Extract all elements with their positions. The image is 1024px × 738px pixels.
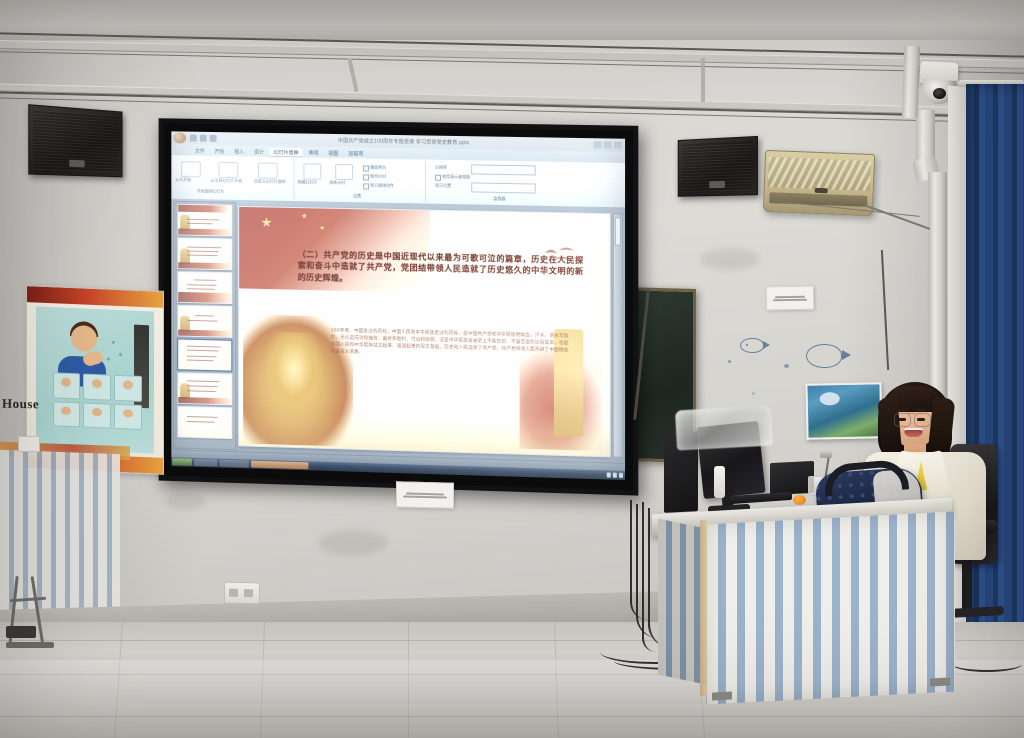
powerpoint-window[interactable]: 中国共产党成立100周年专题党课 学习贯彻党史教育.pptx 文件 开始 插入 …: [171, 131, 625, 480]
speaker-badge: [709, 181, 725, 188]
start-from-beginning-label: 从头开始: [175, 177, 191, 183]
desk-foot: [930, 677, 950, 686]
network-icon[interactable]: [607, 472, 611, 477]
thumb-line: [187, 360, 214, 362]
quick-access-toolbar[interactable]: [190, 135, 217, 142]
wall-smudge: [166, 492, 206, 510]
close-icon[interactable]: [614, 142, 622, 149]
conduit-drop-2: [701, 58, 705, 102]
bubble-dot: [784, 364, 789, 368]
taskbar-item[interactable]: [219, 460, 249, 468]
thumb-accent-bottom: [178, 229, 231, 236]
poster-step: [83, 374, 111, 401]
presenter-view-label: 使用演示者视图: [442, 174, 470, 181]
fish-eye-icon: [746, 344, 748, 346]
slide-title[interactable]: （二）共产党的历史是中国近现代以来最为可歌可泣的篇章，历史在人民探索和奋斗中造就…: [298, 249, 584, 290]
droplet-icon: [107, 358, 110, 361]
ribbon-group-monitors: 使用演示者视图 分辨率 显示位置 监视器: [429, 162, 580, 205]
slide-thumbnail[interactable]: [177, 237, 232, 270]
thumb-line: [187, 350, 219, 352]
poster-top-band: [27, 286, 163, 308]
notice-line: [403, 495, 447, 498]
slide-scrollbar[interactable]: [613, 213, 623, 458]
rehearse-timings-button[interactable]: [335, 164, 353, 180]
thumb-line: [194, 279, 215, 280]
ac-display-icon: [814, 188, 827, 193]
thumb-accent-bottom: [178, 330, 231, 337]
start-from-current-button[interactable]: [218, 162, 238, 178]
plastic-cover: [675, 406, 773, 451]
hide-slide-label: 隐藏幻灯片: [297, 179, 317, 185]
mouth-smiling: [904, 428, 923, 437]
tab-review[interactable]: 审阅: [305, 148, 323, 157]
volume-icon[interactable]: [613, 473, 617, 478]
desk-foot: [712, 691, 732, 700]
play-narration-checkbox[interactable]: [363, 165, 369, 171]
thumb-line: [187, 254, 218, 256]
socket-slot: [229, 589, 238, 597]
notice-line: [406, 492, 444, 495]
custom-slideshow-label: 自定义幻灯片放映: [254, 178, 286, 185]
thumb-accent-bottom: [178, 262, 231, 269]
slide-thumbnail[interactable]: [177, 372, 232, 405]
projection-screen: 中国共产党成立100周年专题党课 学习贯彻党史教育.pptx 文件 开始 插入 …: [159, 118, 639, 495]
easel-base: [6, 642, 54, 648]
poster-step: [114, 404, 142, 431]
show-media-controls-label: 显示媒体控件: [370, 183, 394, 189]
cctv-lens-icon: [933, 88, 946, 99]
projected-image: 中国共产党成立100周年专题党课 学习贯彻党史教育.pptx 文件 开始 插入 …: [171, 131, 625, 480]
thumb-line: [187, 390, 216, 392]
easel-tray: [6, 626, 36, 638]
guardian-lion-head-icon: [265, 332, 324, 415]
desk-corner-edge: [700, 520, 707, 696]
windows-taskbar[interactable]: [171, 457, 625, 480]
slide-thumbnail[interactable]: [177, 271, 232, 304]
metal-easel-stand: [10, 576, 58, 654]
input-method-icon[interactable]: [619, 473, 623, 478]
slide-thumbnail[interactable]: [177, 406, 232, 439]
system-tray[interactable]: [607, 472, 623, 478]
poster-body: [36, 307, 154, 454]
speaker-left: [28, 104, 122, 177]
poster-step: [53, 401, 81, 428]
tab-file[interactable]: 文件: [191, 147, 209, 156]
painting-moon: [819, 392, 839, 405]
tab-design[interactable]: 设计: [250, 148, 268, 157]
slide-thumbnail-selected[interactable]: [177, 338, 232, 371]
thumb-line: [187, 421, 215, 423]
show-media-controls-checkbox[interactable]: [363, 183, 369, 189]
ribbon-group-setup-title: 设置: [353, 193, 361, 199]
fish-decal-small: [740, 338, 764, 353]
use-timings-label: 使用计时: [370, 174, 386, 180]
wall-smudge: [318, 530, 388, 556]
fish-decal-large: [806, 344, 842, 368]
tab-addins[interactable]: 加载项: [344, 149, 367, 158]
thumb-line: [195, 315, 213, 316]
restore-icon[interactable]: [604, 141, 612, 148]
slide-thumbnail[interactable]: [177, 305, 232, 338]
resolution-label: 分辨率: [435, 165, 447, 171]
show-on-dropdown[interactable]: [471, 182, 536, 193]
thumb-line: [187, 288, 215, 290]
thumb-line: [187, 320, 218, 322]
thumb-line: [187, 219, 220, 221]
thumb-line: [187, 380, 220, 382]
taskbar-item[interactable]: [194, 459, 218, 467]
tab-home[interactable]: 开始: [211, 147, 229, 156]
power-socket[interactable]: [224, 582, 260, 605]
poster-step: [114, 375, 142, 402]
thumb-line: [187, 385, 218, 387]
thumb-line: [187, 223, 212, 225]
tab-view[interactable]: 视图: [324, 149, 342, 158]
thumb-accent: [178, 205, 231, 213]
droplet-icon: [119, 353, 122, 356]
notice-card-wall: [766, 286, 814, 311]
office-orb-icon[interactable]: [173, 132, 186, 143]
desk-lamp-icon[interactable]: [820, 450, 832, 458]
rehearse-timings-label: 排练计时: [329, 180, 345, 186]
window-buttons[interactable]: [594, 141, 622, 149]
start-from-current-label: 从当前幻灯片开始: [211, 178, 243, 185]
thumb-accent-bottom: [178, 292, 231, 303]
desk-front-panel: [706, 511, 955, 704]
poster-step: [83, 402, 111, 429]
scrollbar-thumb[interactable]: [615, 217, 621, 245]
fish-tail-icon: [842, 350, 851, 360]
droplet-icon: [112, 341, 115, 344]
tab-insert[interactable]: 插入: [230, 147, 248, 156]
slide-thumbnail[interactable]: [177, 204, 232, 237]
poster-child-head: [71, 325, 97, 352]
thumb-line: [187, 416, 218, 418]
ribbon-group-start-show-title: 开始放映幻灯片: [197, 188, 225, 194]
thumb-line: [187, 247, 222, 249]
redo-icon[interactable]: [210, 135, 217, 142]
hide-slide-button[interactable]: [303, 163, 321, 179]
play-narration-label: 播放旁白: [370, 165, 386, 171]
glasses-bridge: [907, 413, 915, 414]
orange-fruit: [793, 495, 806, 505]
small-wall-box: [18, 436, 40, 452]
wall-smudge: [700, 248, 760, 270]
eye-right: [917, 418, 925, 421]
slide-editing-area[interactable]: （二）共产党的历史是中国近现代以来最为可歌可泣的篇章，历史在人民探索和奋斗中造就…: [238, 206, 611, 457]
bubble-dot: [752, 392, 755, 395]
fish-tail-icon: [763, 341, 770, 349]
thumb-line: [187, 346, 221, 348]
custom-slideshow-button[interactable]: [258, 163, 278, 179]
slide-body-text[interactable]: 100年来，中国走过的历程，中国人民和中华民族走过的历程，是中国共产党和中华民族…: [331, 328, 569, 362]
ac-vanes: [768, 157, 871, 191]
ribbon-group-start-show: 从头开始 从当前幻灯片开始 自定义幻灯片放映 开始放映幻灯片: [175, 157, 294, 199]
notice-line: [773, 298, 807, 301]
use-timings-checkbox[interactable]: [363, 174, 369, 180]
slide-thumbnail-panel[interactable]: [173, 201, 236, 451]
wall-lettering: House: [2, 396, 39, 413]
notice-line: [775, 295, 805, 298]
undo-icon[interactable]: [200, 135, 207, 142]
floor-cable: [952, 656, 1022, 672]
classroom-photo: 中国共产党成立100周年专题党课 学习贯彻党史教育.pptx 文件 开始 插入 …: [0, 0, 1024, 738]
save-icon[interactable]: [190, 135, 197, 142]
bubble-dot: [728, 360, 731, 363]
start-from-beginning-button[interactable]: [181, 161, 201, 177]
taskbar-item-active[interactable]: [251, 461, 308, 470]
speaker-right: [678, 136, 758, 197]
thumb-line: [187, 356, 217, 358]
minimize-icon[interactable]: [594, 141, 602, 148]
thumb-accent-bottom: [178, 397, 231, 404]
presenter-view-checkbox[interactable]: [435, 175, 441, 181]
resolution-dropdown[interactable]: [471, 164, 536, 175]
eye-left: [898, 418, 906, 421]
speaker-badge: [69, 160, 84, 168]
ribbon-group-setup: 隐藏幻灯片 排练计时 播放旁白 使用计时 显示媒体控件 设置: [297, 159, 426, 201]
ribbon-group-monitors-title: 监视器: [493, 196, 505, 202]
poster-step: [53, 373, 81, 400]
bottle: [714, 466, 725, 498]
notice-card-screen: [396, 481, 454, 508]
ppt-workspace[interactable]: （二）共产党的历史是中国近现代以来最为可歌可泣的篇章，历史在人民探索和奋斗中造就…: [171, 199, 625, 464]
pvc-pipe-top: [902, 46, 921, 119]
socket-slot: [244, 589, 253, 597]
poster-step-grid: [53, 373, 143, 431]
thumb-line: [187, 284, 217, 286]
show-on-label: 显示位置: [435, 183, 451, 189]
start-button[interactable]: [172, 458, 192, 466]
thumb-line: [187, 251, 219, 253]
